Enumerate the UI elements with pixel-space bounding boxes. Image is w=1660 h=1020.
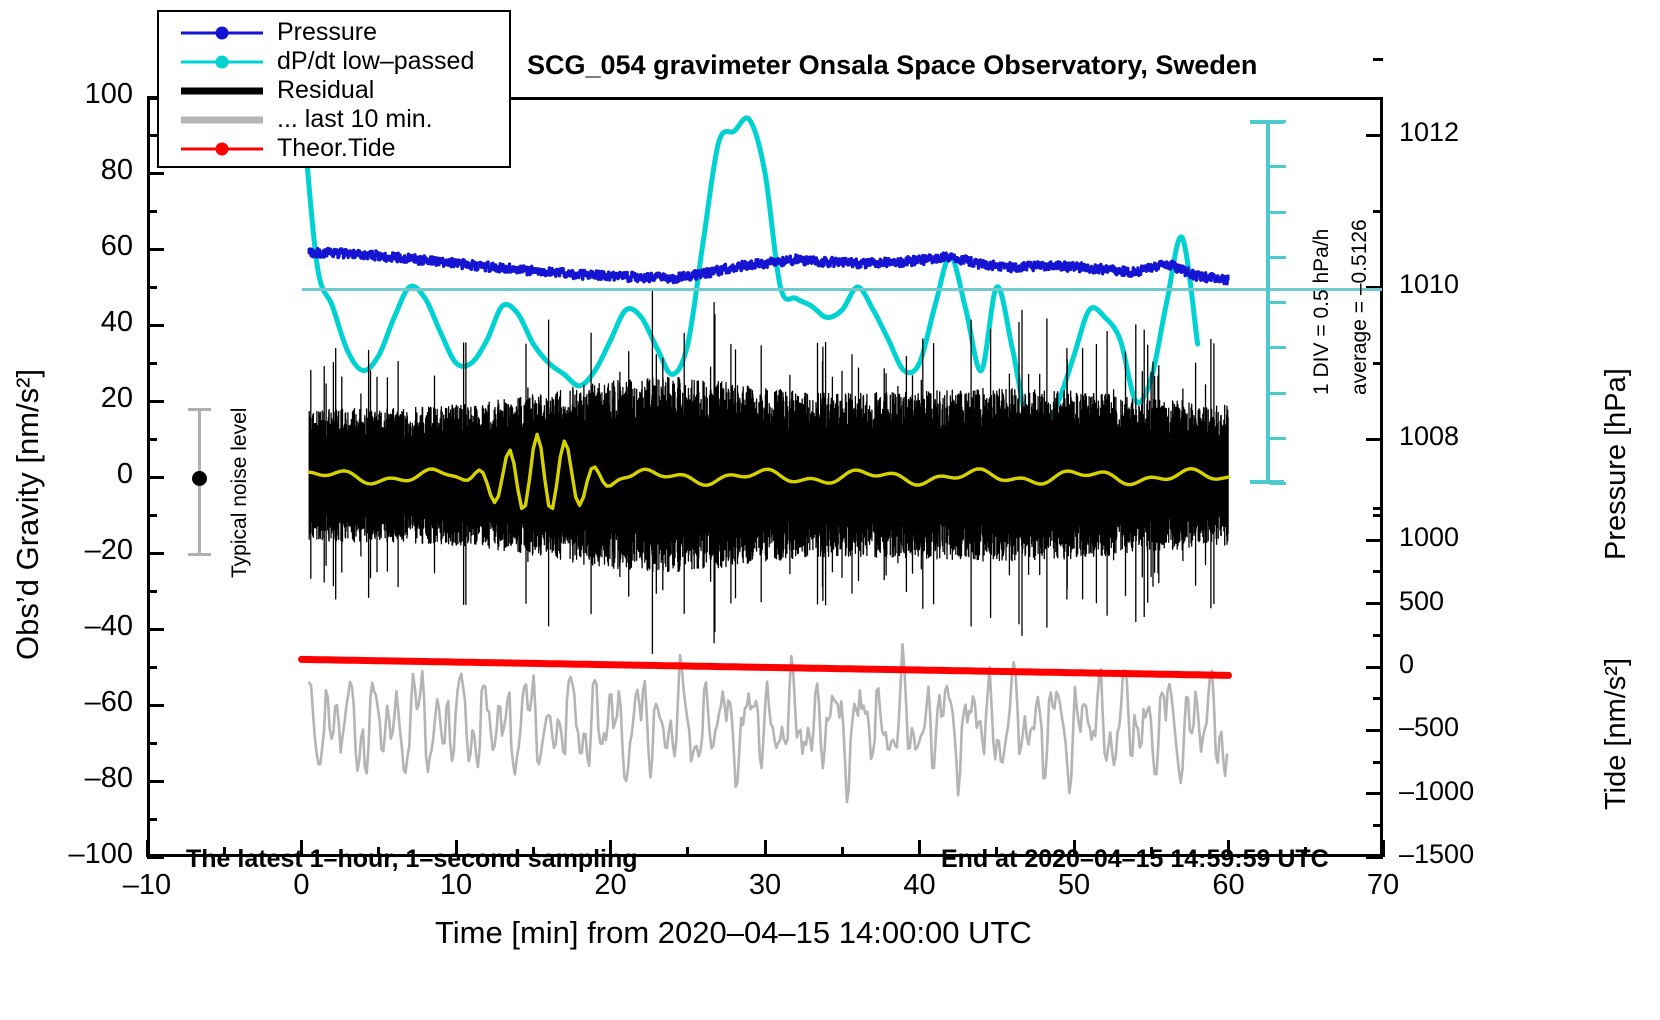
tide-tick-minor (1373, 634, 1383, 637)
x-axis-title: Time [min] from 2020–04–15 14:00:00 UTC (435, 915, 1032, 951)
x-tick-mark (918, 840, 921, 857)
y-tick-minor (147, 742, 157, 745)
tide-tick-minor (1373, 697, 1383, 700)
dpdt-scale-label: 1 DIV = 0.5 hPa/h (1310, 229, 1334, 395)
x-tick-minor (686, 847, 689, 857)
y-tick-minor (147, 286, 157, 289)
legend-swatch-last10 (181, 110, 263, 130)
y-tick-mark (147, 628, 164, 631)
dpdt-tick-mark (1270, 165, 1286, 168)
legend-item-theortide: Theor.Tide (181, 134, 509, 163)
legend-label-dpdt: dP/dt low–passed (277, 47, 474, 76)
pressure-tick-label: 1008 (1399, 421, 1519, 452)
chart-root: SCG_054 gravimeter Onsala Space Observat… (0, 0, 1660, 1020)
x-tick-mark (1382, 840, 1385, 857)
pressure-tick-minor (1373, 58, 1383, 61)
y-tick-label: –80 (13, 762, 133, 795)
y-tick-minor (147, 438, 157, 441)
legend: Pressure dP/dt low–passed Residual ... l… (157, 10, 511, 168)
legend-label-pressure: Pressure (277, 18, 377, 47)
x-tick-label: 30 (720, 869, 810, 902)
tide-tick-minor (1373, 666, 1383, 669)
y-tick-label: 40 (13, 306, 133, 339)
y-tick-minor (147, 134, 157, 137)
y-tick-mark (147, 856, 164, 859)
x-tick-label: 70 (1338, 869, 1428, 902)
legend-item-dpdt: dP/dt low–passed (181, 47, 509, 76)
y-tick-minor (147, 818, 157, 821)
tide-tick-label: 0 (1399, 649, 1519, 680)
dpdt-tick-mark (1270, 437, 1286, 440)
y-tick-label: –60 (13, 686, 133, 719)
tide-tick-label: –1000 (1399, 776, 1519, 807)
y-tick-mark (147, 552, 164, 555)
y-axis-tide-title: Tide [nm/s²] (1600, 658, 1633, 810)
tide-tick-minor (1373, 570, 1383, 573)
dpdt-scale-cap (1250, 480, 1284, 484)
y-tick-label: 60 (13, 230, 133, 263)
y-tick-minor (147, 210, 157, 213)
x-tick-mark (764, 840, 767, 857)
y-tick-mark (147, 780, 164, 783)
y-tick-label: –100 (13, 838, 133, 871)
pressure-tick-mark (1366, 134, 1383, 137)
tide-tick-minor (1373, 507, 1383, 510)
dpdt-tick-mark (1270, 301, 1286, 304)
tide-tick-label: –500 (1399, 712, 1519, 743)
tide-tick-minor (1373, 761, 1383, 764)
x-tick-mark (146, 840, 149, 857)
tide-tick-minor (1373, 729, 1383, 732)
x-tick-minor (841, 847, 844, 857)
legend-item-residual: Residual (181, 76, 509, 105)
page-title: SCG_054 gravimeter Onsala Space Observat… (527, 50, 1257, 81)
y-tick-minor (147, 666, 157, 669)
y-tick-minor (147, 590, 157, 593)
legend-swatch-residual (181, 81, 263, 101)
pressure-tick-mark (1366, 438, 1383, 441)
tide-tick-label: 500 (1399, 586, 1519, 617)
legend-label-theortide: Theor.Tide (277, 134, 396, 163)
y-tick-mark (147, 172, 164, 175)
legend-swatch-theortide (181, 139, 263, 159)
y-tick-label: 80 (13, 154, 133, 187)
y-tick-label: –40 (13, 610, 133, 643)
y-tick-mark (147, 476, 164, 479)
noise-bar-bottom-cap (188, 553, 211, 556)
dpdt-tick-mark (1270, 211, 1286, 214)
y-tick-minor (147, 362, 157, 365)
noise-level-label: Typical noise level (228, 408, 252, 578)
tide-tick-label: –1500 (1399, 839, 1519, 870)
pressure-tick-label: 1012 (1399, 117, 1519, 148)
dpdt-tick-mark (1270, 346, 1286, 349)
dpdt-scale-cap (1250, 120, 1284, 124)
y-tick-label: 0 (13, 458, 133, 491)
bottom-note-right: End at 2020–04–15 14:59:59 UTC (941, 845, 1329, 874)
y-axis-pressure-title: Pressure [hPa] (1600, 368, 1633, 560)
legend-item-last10: ... last 10 min. (181, 105, 509, 134)
legend-swatch-pressure (181, 23, 263, 43)
tide-tick-minor (1373, 602, 1383, 605)
bottom-note-left: The latest 1–hour, 1–second sampling (186, 845, 638, 874)
pressure-tick-minor (1373, 210, 1383, 213)
y-tick-mark (147, 704, 164, 707)
y-tick-label: –20 (13, 534, 133, 567)
pressure-tick-minor (1373, 362, 1383, 365)
tide-tick-label: 1000 (1399, 522, 1519, 553)
pressure-tick-label: 1010 (1399, 269, 1519, 300)
plot-frame (147, 97, 1383, 857)
dpdt-tick-mark (1270, 256, 1286, 259)
y-tick-mark (147, 400, 164, 403)
dpdt-zero-line (302, 288, 1382, 291)
tide-tick-minor (1373, 539, 1383, 542)
tide-tick-minor (1373, 824, 1383, 827)
y-tick-minor (147, 514, 157, 517)
y-tick-mark (147, 248, 164, 251)
pressure-tick-minor (1373, 514, 1383, 517)
legend-label-last10: ... last 10 min. (277, 105, 433, 134)
noise-center-dot (192, 471, 207, 486)
legend-label-residual: Residual (277, 76, 374, 105)
x-tick-label: –10 (102, 869, 192, 902)
y-tick-label: 20 (13, 382, 133, 415)
tide-tick-mark (1366, 856, 1383, 859)
y-tick-mark (147, 324, 164, 327)
dpdt-average-label: average = –0.5126 (1348, 219, 1372, 395)
dpdt-tick-mark (1270, 392, 1286, 395)
tide-tick-minor (1373, 792, 1383, 795)
legend-item-pressure: Pressure (181, 18, 509, 47)
legend-swatch-dpdt (181, 52, 263, 72)
y-tick-label: 100 (13, 78, 133, 111)
